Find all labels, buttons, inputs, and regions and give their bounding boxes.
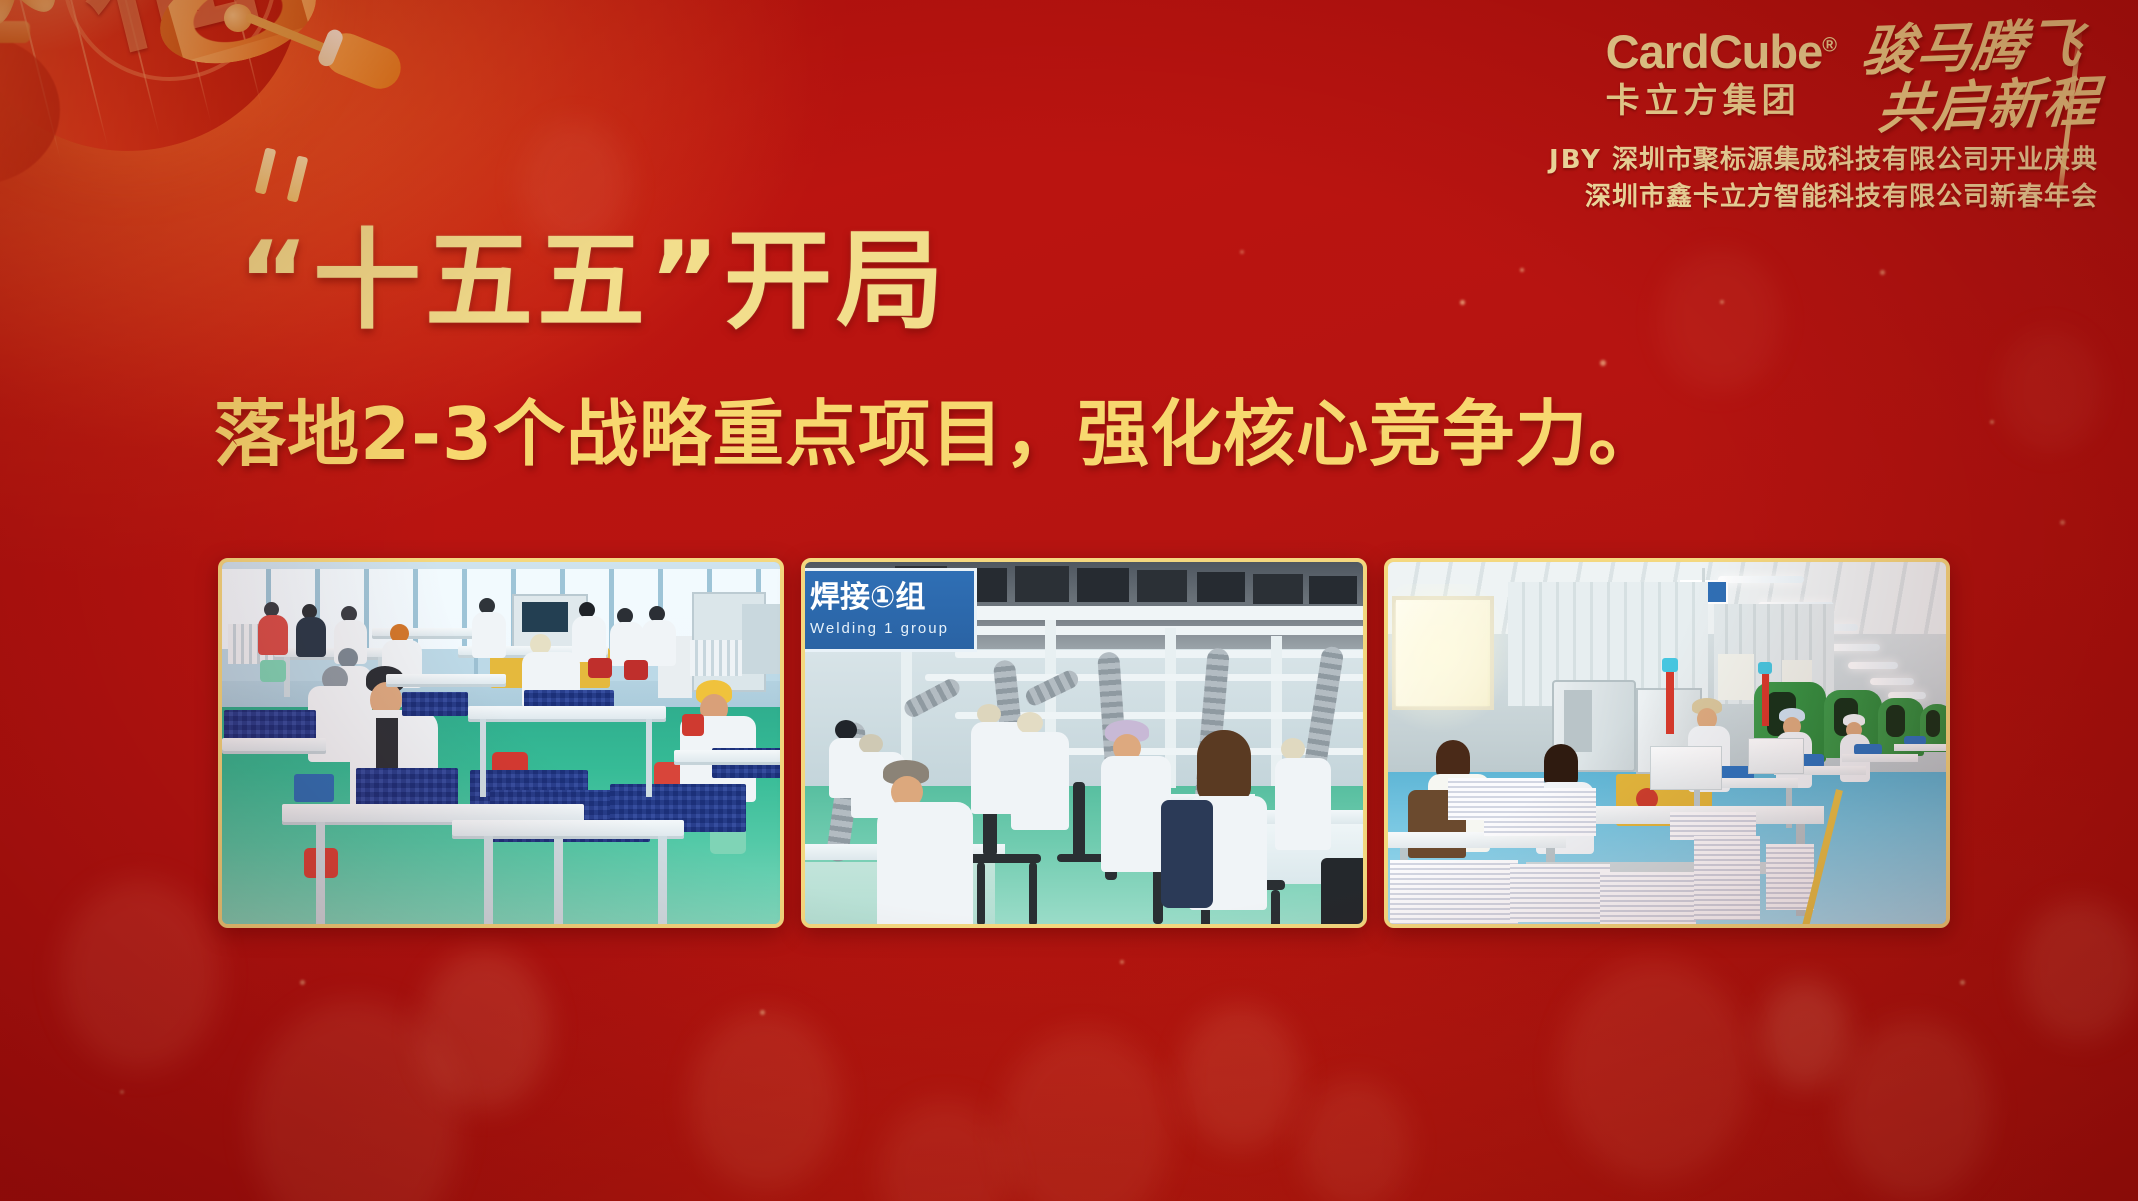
sign-en-text: Welding 1 group — [810, 620, 974, 637]
calligraphy-line-1: 骏马腾飞 — [1860, 18, 2084, 77]
event-subtitle-block: JBY 深圳市聚标源集成科技有限公司开业庆典 深圳市鑫卡立方智能科技有限公司新春… — [1549, 142, 2098, 216]
poster-canvas: 福 — [0, 0, 2138, 1201]
photo-welding-line[interactable]: 焊接①组 Welding 1 group — [801, 558, 1367, 928]
event-line-2: 深圳市鑫卡立方智能科技有限公司新春年会 — [1549, 179, 2098, 216]
lantern-tassel-icon — [158, 0, 358, 88]
photo-gallery: 焊接①组 Welding 1 group — [218, 558, 1950, 928]
sign-cn-text: 焊接①组 — [810, 583, 974, 613]
page-title: “十五五”开局 — [238, 228, 948, 336]
calligraphy-slogan: 骏马腾飞 共启新程 — [1862, 22, 2098, 132]
cardcube-logo: CardCube® 卡立方集团 — [1606, 22, 1836, 118]
event-line-1: JBY 深圳市聚标源集成科技有限公司开业庆典 — [1549, 142, 2098, 179]
photo-production-hall[interactable] — [1384, 558, 1950, 928]
photo-assembly-hall[interactable] — [218, 558, 784, 928]
brand-header: CardCube® 卡立方集团 骏马腾飞 共启新程 JBY 深圳市聚标源集成科技… — [1549, 22, 2098, 215]
logo-en-text: CardCube — [1606, 25, 1823, 78]
welding-group-sign: 焊接①组 Welding 1 group — [805, 568, 977, 652]
event-line-1-text: 深圳市聚标源集成科技有限公司开业庆典 — [1612, 145, 2098, 175]
logo-cn-text: 卡立方集团 — [1606, 84, 1801, 118]
registered-mark-icon: ® — [1822, 34, 1836, 56]
page-subtitle: 落地2-3个战略重点项目，强化核心竞争力。 — [214, 398, 1661, 470]
jby-abbr: JBY — [1549, 145, 1602, 175]
